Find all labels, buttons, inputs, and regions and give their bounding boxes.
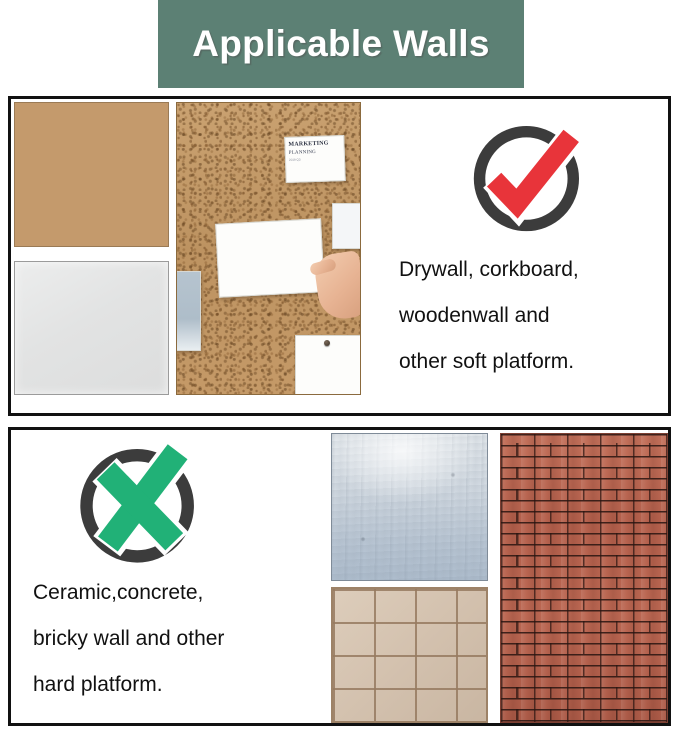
- applicable-caption: Drywall, corkboard, woodenwall and other…: [399, 247, 579, 385]
- caption-line-1: Drywall, corkboard,: [399, 247, 579, 293]
- brick-texture: [500, 433, 668, 723]
- corkboard-photo: MARKETING PLANNING 2019 Q3: [176, 102, 361, 395]
- caption-line-2: woodenwall and: [399, 293, 579, 339]
- pushpin-icon: [324, 340, 330, 346]
- wood-texture: [14, 102, 169, 247]
- corkboard-card-blue: [176, 271, 201, 351]
- caption-line-1: Ceramic,concrete,: [33, 570, 224, 616]
- note-title: MARKETING: [288, 139, 343, 149]
- note-fine-print: 2019 Q3: [289, 156, 344, 162]
- corkboard-card-held: [215, 218, 325, 297]
- check-circle-icon: [466, 114, 591, 239]
- cross-circle-icon: [73, 436, 208, 571]
- corkboard-note-marketing: MARKETING PLANNING 2019 Q3: [284, 135, 346, 183]
- ceramic-tile-texture: [331, 587, 488, 723]
- caption-line-3: hard platform.: [33, 662, 224, 708]
- corkboard-note-pinned: [295, 335, 361, 395]
- brick-offset-rows: [501, 434, 667, 722]
- applicable-panel: MARKETING PLANNING 2019 Q3 Drywall, cork…: [8, 96, 671, 416]
- caption-line-2: bricky wall and other: [33, 616, 224, 662]
- note-subtitle: PLANNING: [289, 149, 344, 156]
- not-applicable-caption: Ceramic,concrete, bricky wall and other …: [33, 570, 224, 708]
- drywall-texture: [14, 261, 169, 395]
- caption-line-3: other soft platform.: [399, 339, 579, 385]
- title-banner: Applicable Walls: [158, 0, 524, 88]
- corkboard-note-small-right: [332, 203, 361, 249]
- not-applicable-panel: Ceramic,concrete, bricky wall and other …: [8, 427, 671, 726]
- page-title: Applicable Walls: [192, 23, 489, 65]
- concrete-texture: [331, 433, 488, 581]
